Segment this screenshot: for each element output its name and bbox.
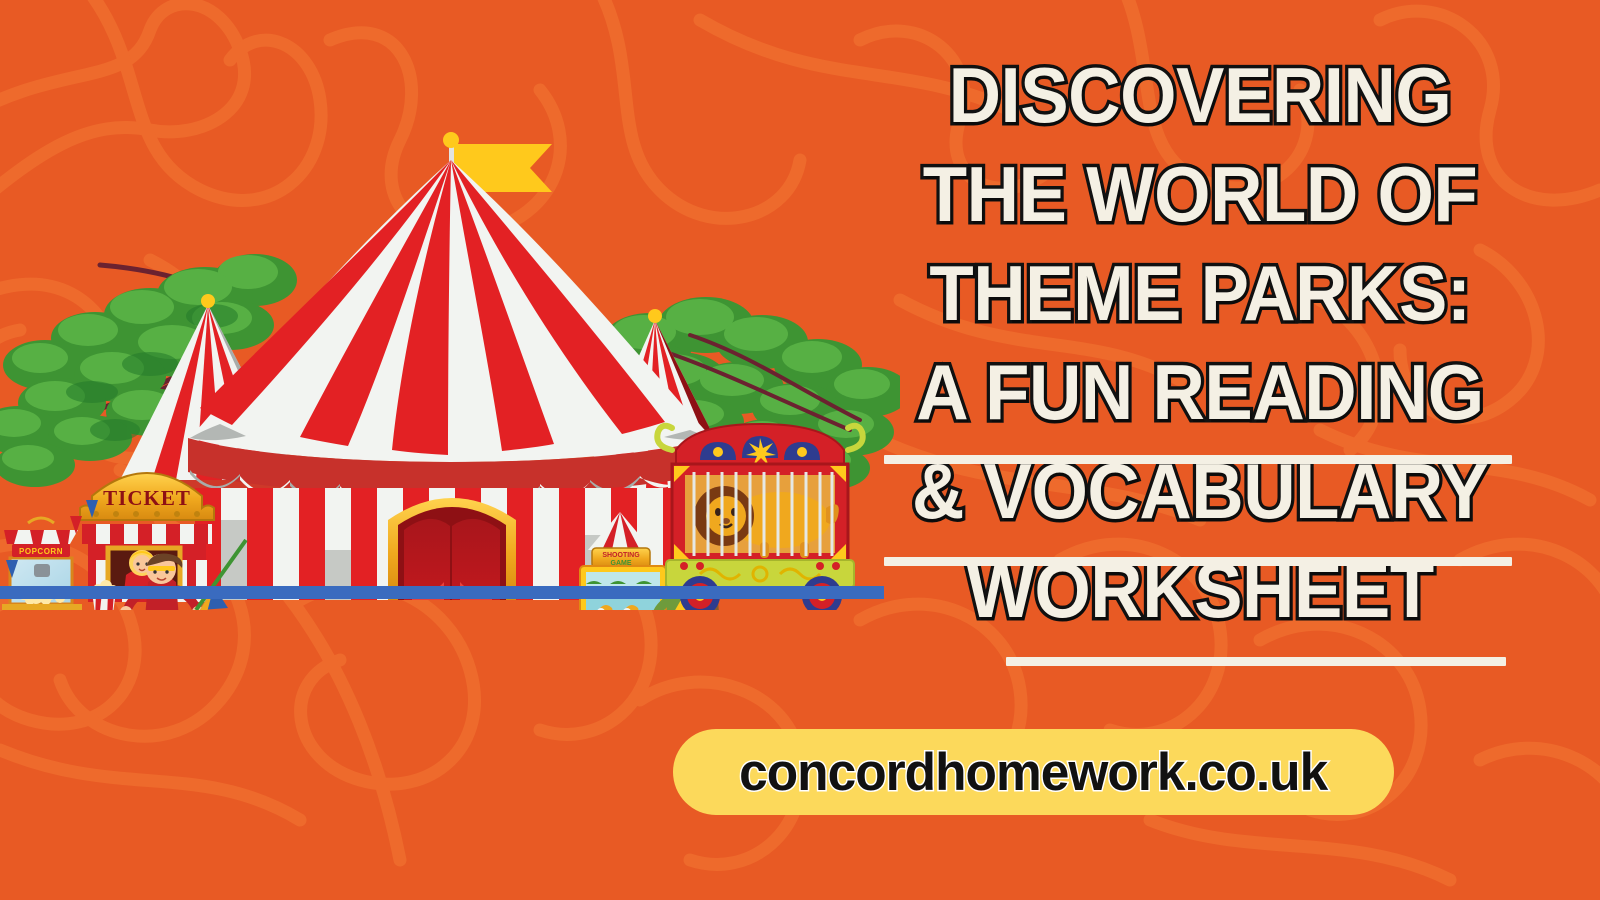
tent-entrance (388, 498, 516, 600)
title-line-2-text: THE WORLD OF (923, 150, 1478, 238)
title-line-4: A FUN READING (884, 343, 1516, 442)
title-line-6: WORKSHEET (884, 541, 1516, 640)
ground-bar (0, 586, 884, 599)
website-url-text: concordhomework.co.uk (739, 742, 1327, 803)
title-line-1: DISCOVERING (884, 46, 1516, 145)
poster-canvas: TICKET (0, 0, 1600, 900)
title-line-4-text: A FUN READING (916, 348, 1484, 436)
title-underline-2 (884, 557, 1512, 566)
title-line-1-text: DISCOVERING (949, 51, 1452, 139)
lion-cage-wagon (657, 424, 862, 610)
ticket-booth: TICKET (80, 473, 214, 602)
title-underline-1 (884, 455, 1512, 464)
ticket-booth-sign-text: TICKET (103, 486, 191, 510)
title-line-2: THE WORLD OF (884, 145, 1516, 244)
poster-title: DISCOVERING THE WORLD OF THEME PARKS: A … (860, 46, 1540, 640)
title-line-3: THEME PARKS: (884, 244, 1516, 343)
circus-carnival-illustration: TICKET (0, 120, 900, 610)
title-line-3-text: THEME PARKS: (929, 249, 1470, 337)
popcorn-cart-sign-text: POPCORN (19, 547, 63, 556)
big-top-tent (188, 132, 714, 600)
shooting-game-sign-text: SHOOTING (602, 552, 640, 559)
website-url-badge[interactable]: concordhomework.co.uk (673, 729, 1394, 815)
title-underline-3 (1006, 657, 1506, 666)
